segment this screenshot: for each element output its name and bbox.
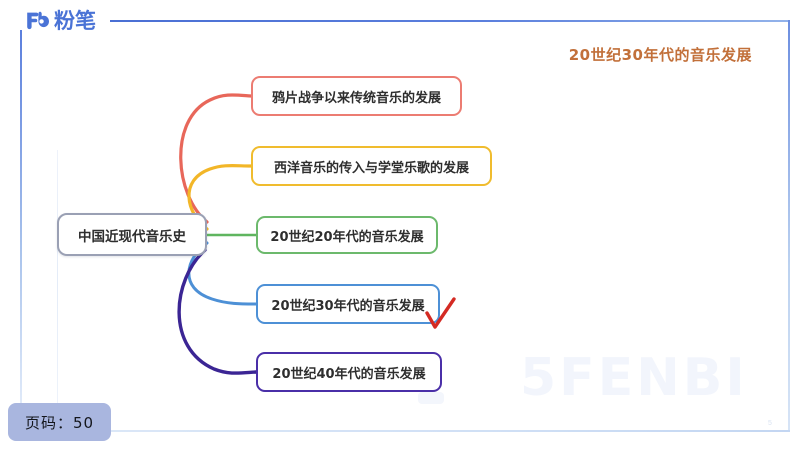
mindmap-node-3[interactable]: 20世纪20年代的音乐发展	[256, 216, 438, 254]
watermark-text: 5FENBI	[520, 348, 748, 408]
page-number-badge: 页码：50	[8, 403, 111, 441]
mindmap-node-1[interactable]: 鸦片战争以来传统音乐的发展	[251, 76, 462, 116]
mindmap-root-label: 中国近现代音乐史	[78, 225, 186, 245]
mindmap-node-5[interactable]: 20世纪40年代的音乐发展	[256, 352, 442, 392]
frame-bottom-border	[105, 430, 790, 432]
frame-left-border	[20, 30, 22, 430]
watermark-corner-text: 5	[768, 420, 772, 427]
brand-logo: 粉笔	[24, 9, 96, 33]
frame-top-border	[110, 20, 790, 22]
mindmap-node-3-label: 20世纪20年代的音乐发展	[270, 226, 423, 245]
mindmap-node-4[interactable]: 20世纪30年代的音乐发展	[256, 284, 440, 324]
mindmap-node-2-label: 西洋音乐的传入与学堂乐歌的发展	[274, 157, 469, 176]
mindmap-node-1-label: 鸦片战争以来传统音乐的发展	[272, 87, 441, 106]
brand-name: 粉笔	[54, 9, 96, 33]
frame-right-border	[788, 20, 790, 432]
fb-logo-icon	[24, 9, 50, 33]
left-guide-line	[57, 150, 58, 412]
slide-canvas: 粉笔 20世纪30年代的音乐发展 5FENBI 5 中国近现代音乐史 鸦片战争以…	[0, 0, 800, 450]
mindmap-root-node[interactable]: 中国近现代音乐史	[57, 213, 207, 256]
mindmap-node-2[interactable]: 西洋音乐的传入与学堂乐歌的发展	[251, 146, 492, 186]
page-number-label: 页码：50	[25, 412, 94, 433]
watermark-blob	[418, 392, 444, 404]
mindmap-node-5-label: 20世纪40年代的音乐发展	[272, 363, 425, 382]
page-title: 20世纪30年代的音乐发展	[569, 44, 752, 65]
mindmap-node-4-label: 20世纪30年代的音乐发展	[271, 295, 424, 314]
